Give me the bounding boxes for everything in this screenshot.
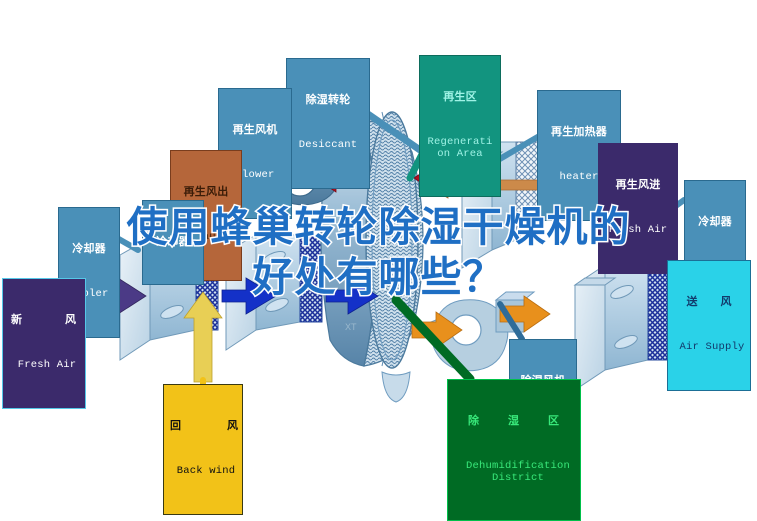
overlay-title: 使用蜂巢转轮除湿干燥机的 好处有哪些？ bbox=[0, 202, 757, 302]
label-back-wind: 回 风 Back wind bbox=[163, 384, 243, 515]
label-back-wind-cn: 回 风 bbox=[170, 421, 242, 433]
label-regeneration-area-cn: 再生区 bbox=[420, 92, 500, 104]
label-dehumidification-district-en: Dehumidification District bbox=[456, 461, 580, 483]
label-dehumidification-district-cn: 除 湿 区 bbox=[456, 416, 580, 428]
label-dehumidification-district: 除 湿 区 Dehumidification District bbox=[447, 379, 581, 521]
label-desiccant-rotor: 除湿转轮 Desiccant bbox=[286, 58, 370, 189]
svg-text:XT: XT bbox=[345, 322, 357, 332]
label-regeneration-area-en: Regenerati on Area bbox=[420, 137, 500, 159]
label-regeneration-heater-cn: 再生加热器 bbox=[538, 127, 620, 139]
label-fresh-air-process-cn: 新 风 bbox=[9, 315, 85, 327]
label-fresh-air-process-en: Fresh Air bbox=[9, 360, 85, 371]
label-regeneration-area: 再生区 Regenerati on Area bbox=[419, 55, 501, 197]
label-exhaust-cn: 再生风出 bbox=[171, 187, 241, 199]
label-desiccant-rotor-cn: 除湿转轮 bbox=[287, 95, 369, 107]
overlay-title-line2: 好处有哪些？ bbox=[0, 252, 757, 302]
label-regeneration-fresh-air-cn: 再生风进 bbox=[599, 180, 677, 192]
diagram-canvas: XT bbox=[0, 0, 757, 488]
overlay-title-line1: 使用蜂巢转轮除湿干燥机的 bbox=[0, 202, 757, 252]
label-back-wind-en: Back wind bbox=[170, 466, 242, 477]
label-regeneration-blower-cn: 再生风机 bbox=[219, 125, 291, 137]
label-air-supply-en: Air Supply bbox=[674, 342, 750, 353]
label-desiccant-rotor-en: Desiccant bbox=[287, 140, 369, 151]
